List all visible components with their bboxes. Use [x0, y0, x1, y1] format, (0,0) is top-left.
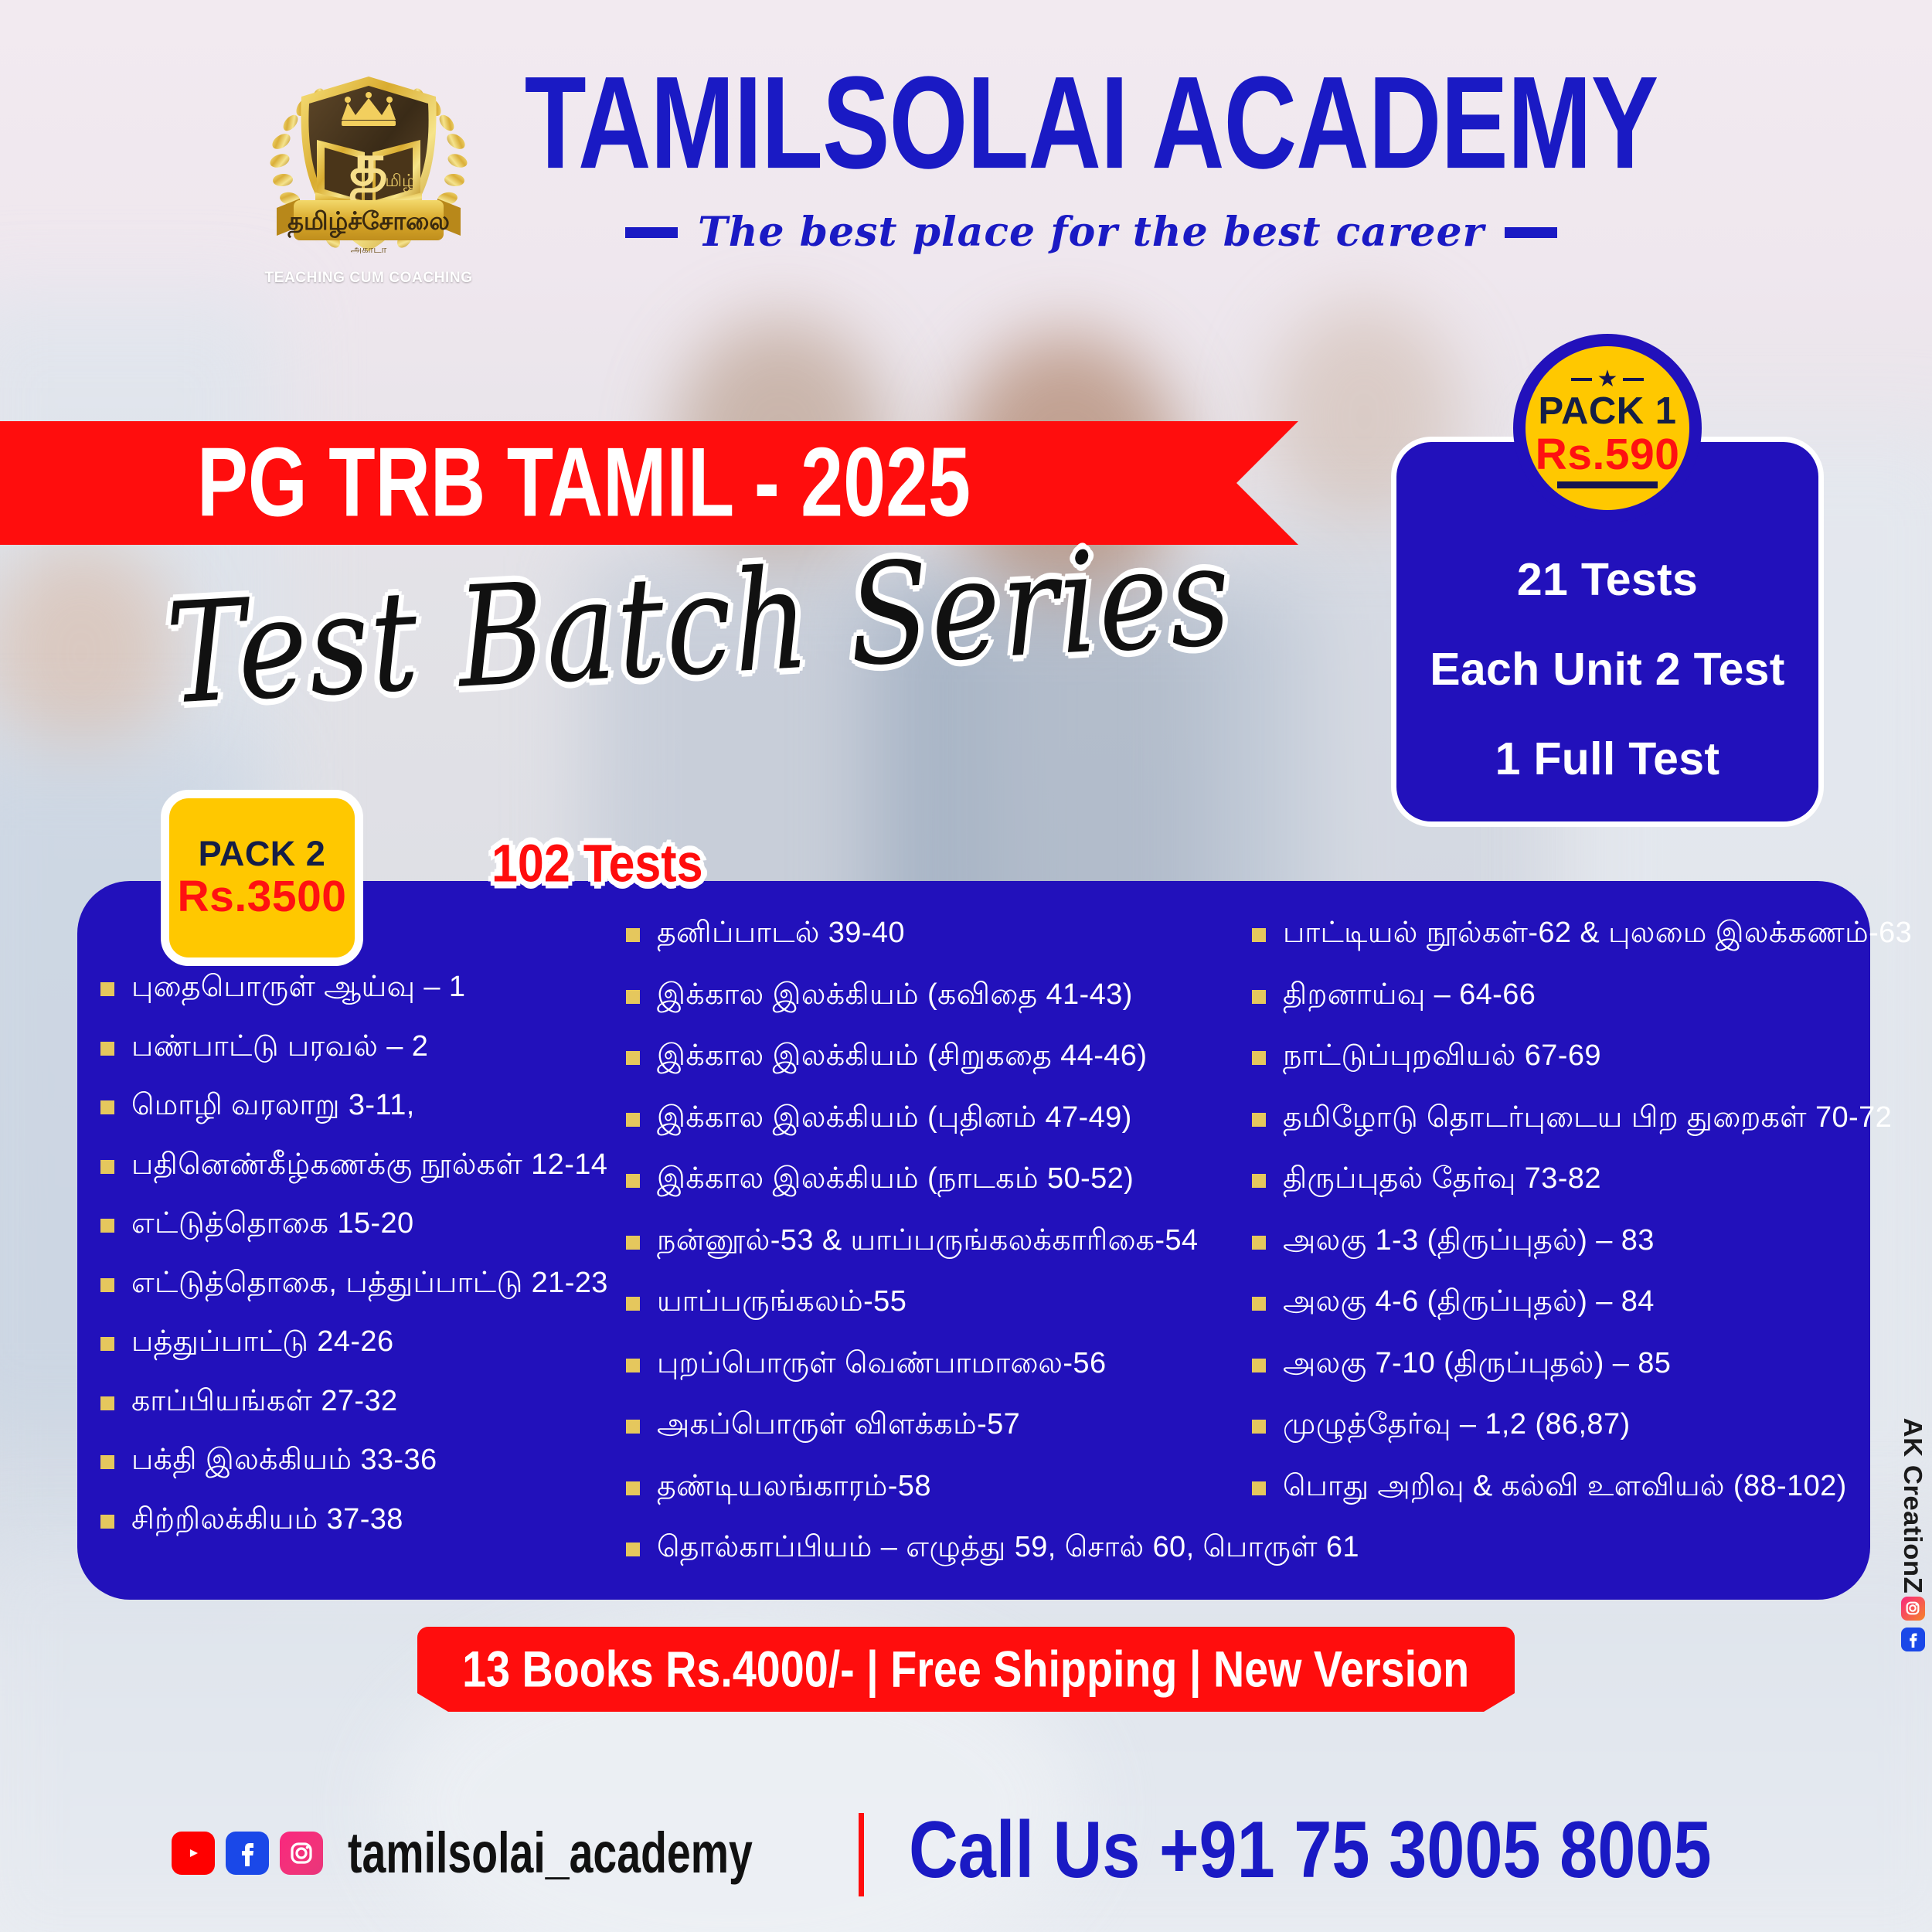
syllabus-column-3: பாட்டியல் நூல்கள்-62 & புலமை இலக்கணம்-63… [1244, 907, 1862, 1583]
syllabus-column-1: புதைபொருள் ஆய்வு – 1 பண்பாட்டு பரவல் – 2… [77, 907, 618, 1583]
list-item: மொழி வரலாறு 3-11, [100, 1087, 618, 1124]
syllabus-column-2: தனிப்பாடல் 39-40 இக்கால இலக்கியம் (கவிதை… [618, 907, 1244, 1583]
designer-credit: AK CreationZ [1898, 1422, 1927, 1651]
pack1-name: PACK 1 [1538, 393, 1676, 430]
list-item-label: நன்னூல்-53 & யாப்பருங்கலக்காரிகை-54 [657, 1223, 1198, 1260]
list-item-label: தண்டியலங்காரம்-58 [657, 1468, 931, 1505]
list-item-label: எட்டுத்தொகை, பத்துப்பாட்டு 21-23 [131, 1265, 608, 1302]
list-item: சிற்றிலக்கியம் 37-38 [100, 1502, 618, 1539]
list-item-label: சிற்றிலக்கியம் 37-38 [131, 1502, 403, 1539]
list-item: அலகு 7-10 (திருப்புதல்) – 85 [1252, 1345, 1862, 1383]
list-item: இக்கால இலக்கியம் (சிறுகதை 44-46) [626, 1038, 1244, 1075]
bullet-icon [100, 1100, 114, 1114]
list-item: அகப்பொருள் விளக்கம்-57 [626, 1406, 1244, 1444]
list-item: யாப்பருங்கலம்-55 [626, 1284, 1244, 1321]
list-item: நாட்டுப்புறவியல் 67-69 [1252, 1038, 1862, 1075]
list-item-label: திறனாய்வு – 64-66 [1283, 977, 1536, 1014]
list-item-label: யாப்பருங்கலம்-55 [657, 1284, 906, 1321]
bullet-icon [626, 1236, 640, 1250]
list-item-label: பக்தி இலக்கியம் 33-36 [131, 1442, 437, 1479]
bullet-icon [626, 1113, 640, 1127]
list-item-label: முழுத்தேர்வு – 1,2 (86,87) [1283, 1406, 1631, 1444]
bullet-icon [100, 982, 114, 996]
list-item-label: மொழி வரலாறு 3-11, [131, 1087, 415, 1124]
page-header: த மிழ் தமிழ்ச்சோலை அகாடா TEACHING CUM CO… [0, 0, 1932, 332]
bullet-icon [1252, 928, 1266, 942]
list-item-label: இக்கால இலக்கியம் (புதினம் 47-49) [657, 1100, 1132, 1137]
list-item-label: பண்பாட்டு பரவல் – 2 [131, 1029, 428, 1066]
list-item: புறப்பொருள் வெண்பாமாலை-56 [626, 1345, 1244, 1383]
tagline: The best place for the best career [698, 209, 1485, 256]
svg-text:த: த [349, 132, 388, 206]
svg-text:மிழ்: மிழ் [385, 171, 415, 192]
pack1-line-1: Each Unit 2 Test [1430, 643, 1784, 696]
list-item-label: பதினெண்கீழ்கணக்கு நூல்கள் 12-14 [131, 1147, 607, 1184]
list-item: புதைபொருள் ஆய்வு – 1 [100, 969, 618, 1006]
credit-facebook-icon [1901, 1628, 1925, 1651]
logo-subtitle: TEACHING CUM COACHING [257, 270, 481, 287]
list-item-label: பொது அறிவு & கல்வி உளவியல் (88-102) [1283, 1468, 1847, 1505]
bullet-icon [100, 1219, 114, 1233]
list-item: இக்கால இலக்கியம் (புதினம் 47-49) [626, 1100, 1244, 1137]
list-item-label: அலகு 4-6 (திருப்புதல்) – 84 [1283, 1284, 1655, 1321]
bullet-icon [100, 1042, 114, 1056]
facebook-icon[interactable] [226, 1832, 269, 1875]
svg-text:அகாடா: அகாடா [351, 243, 387, 255]
list-item: முழுத்தேர்வு – 1,2 (86,87) [1252, 1406, 1862, 1444]
list-item-label: இக்கால இலக்கியம் (நாடகம் 50-52) [657, 1161, 1134, 1198]
list-item-label: நாட்டுப்புறவியல் 67-69 [1283, 1038, 1601, 1075]
bullet-icon [100, 1337, 114, 1351]
list-item: திருப்புதல் தேர்வு 73-82 [1252, 1161, 1862, 1198]
list-item: தண்டியலங்காரம்-58 [626, 1468, 1244, 1505]
list-item: அலகு 1-3 (திருப்புதல்) – 83 [1252, 1223, 1862, 1260]
course-title: PG TRB TAMIL - 2025 [197, 427, 971, 539]
list-item: பதினெண்கீழ்கணக்கு நூல்கள் 12-14 [100, 1147, 618, 1184]
bullet-icon [1252, 1174, 1266, 1188]
list-item-label: புதைபொருள் ஆய்வு – 1 [131, 969, 465, 1006]
list-item-label: காப்பியங்கள் 27-32 [131, 1383, 398, 1420]
page-title: TAMILSOLAI ACADEMY [525, 56, 1658, 188]
bullet-icon [100, 1515, 114, 1529]
bullet-icon [1252, 1420, 1266, 1434]
list-item-label: அகப்பொருள் விளக்கம்-57 [657, 1406, 1020, 1444]
bullet-icon [626, 1051, 640, 1065]
youtube-icon[interactable] [172, 1832, 215, 1875]
bullet-icon [626, 1420, 640, 1434]
list-item-label: எட்டுத்தொகை 15-20 [131, 1206, 414, 1243]
list-item: பத்துப்பாட்டு 24-26 [100, 1324, 618, 1361]
books-offer-ribbon: 13 Books Rs.4000/- | Free Shipping | New… [417, 1627, 1515, 1712]
bullet-icon [1252, 1359, 1266, 1372]
bullet-icon [1252, 1113, 1266, 1127]
bullet-icon [1252, 1297, 1266, 1311]
tagline-dash-left [625, 227, 678, 238]
list-item: தொல்காப்பியம் – எழுத்து 59, சொல் 60, பொர… [626, 1529, 1244, 1566]
tagline-dash-right [1505, 227, 1557, 238]
list-item-label: பாட்டியல் நூல்கள்-62 & புலமை இலக்கணம்-63 [1283, 915, 1912, 952]
list-item-label: அலகு 7-10 (திருப்புதல்) – 85 [1283, 1345, 1671, 1383]
bullet-icon [626, 1174, 640, 1188]
list-item-label: இக்கால இலக்கியம் (சிறுகதை 44-46) [657, 1038, 1147, 1075]
list-item: அலகு 4-6 (திருப்புதல்) – 84 [1252, 1284, 1862, 1321]
pack1-price-badge[interactable]: ★ PACK 1 Rs.590 [1513, 334, 1702, 522]
pack2-name: PACK 2 [199, 835, 326, 873]
page-footer: tamilsolai_academy Call Us +91 75 3005 8… [0, 1808, 1932, 1932]
footer-divider [859, 1813, 864, 1896]
list-item-label: தனிப்பாடல் 39-40 [657, 915, 905, 952]
list-item-label: இக்கால இலக்கியம் (கவிதை 41-43) [657, 977, 1133, 1014]
list-item: திறனாய்வு – 64-66 [1252, 977, 1862, 1014]
star-ornament: ★ [1571, 368, 1645, 391]
social-links: tamilsolai_academy [172, 1825, 808, 1881]
list-item: தனிப்பாடல் 39-40 [626, 915, 1244, 952]
list-item: பக்தி இலக்கியம் 33-36 [100, 1442, 618, 1479]
list-item: நன்னூல்-53 & யாப்பருங்கலக்காரிகை-54 [626, 1223, 1244, 1260]
shield-crest-icon: த மிழ் தமிழ்ச்சோலை அகாடா [257, 49, 481, 273]
bullet-icon [626, 1297, 640, 1311]
list-item: இக்கால இலக்கியம் (நாடகம் 50-52) [626, 1161, 1244, 1198]
star-icon: ★ [1597, 368, 1618, 391]
dash-right-icon [1623, 378, 1644, 381]
bullet-icon [1252, 990, 1266, 1004]
bullet-icon [100, 1160, 114, 1174]
bullet-icon [626, 1359, 640, 1372]
list-item-label: புறப்பொருள் வெண்பாமாலை-56 [657, 1345, 1106, 1383]
pack1-line-0: 21 Tests [1517, 553, 1698, 606]
bullet-icon [100, 1396, 114, 1410]
pack1-line-2: 1 Full Test [1495, 733, 1720, 785]
credit-instagram-icon [1901, 1597, 1925, 1621]
instagram-icon[interactable] [280, 1832, 323, 1875]
list-item: பண்பாட்டு பரவல் – 2 [100, 1029, 618, 1066]
list-item: தமிழோடு தொடர்புடைய பிற துறைகள் 70-72 [1252, 1100, 1862, 1137]
pack2-price-badge[interactable]: PACK 2 Rs.3500 [161, 790, 363, 966]
bullet-icon [626, 1543, 640, 1556]
credit-text: AK CreationZ [1898, 1418, 1927, 1594]
bullet-icon [626, 990, 640, 1004]
list-item: எட்டுத்தொகை 15-20 [100, 1206, 618, 1243]
call-us-text[interactable]: Call Us +91 75 3005 8005 [909, 1804, 1712, 1896]
list-item: இக்கால இலக்கியம் (கவிதை 41-43) [626, 977, 1244, 1014]
social-handle[interactable]: tamilsolai_academy [348, 1821, 753, 1886]
bullet-icon [626, 1481, 640, 1495]
bullet-icon [100, 1278, 114, 1292]
pack2-price: Rs.3500 [177, 872, 346, 921]
list-item: பொது அறிவு & கல்வி உளவியல் (88-102) [1252, 1468, 1862, 1505]
list-item: எட்டுத்தொகை, பத்துப்பாட்டு 21-23 [100, 1265, 618, 1302]
academy-logo: த மிழ் தமிழ்ச்சோலை அகாடா TEACHING CUM CO… [257, 49, 481, 288]
list-item-label: தமிழோடு தொடர்புடைய பிற துறைகள் 70-72 [1283, 1100, 1892, 1137]
pack1-price: Rs.590 [1536, 430, 1680, 479]
tagline-row: The best place for the best career [625, 209, 1557, 256]
dash-left-icon [1571, 378, 1592, 381]
syllabus-panel: புதைபொருள் ஆய்வு – 1 பண்பாட்டு பரவல் – 2… [77, 881, 1870, 1600]
bullet-icon [1252, 1236, 1266, 1250]
bullet-icon [626, 928, 640, 942]
bullet-icon [1252, 1051, 1266, 1065]
list-item: காப்பியங்கள் 27-32 [100, 1383, 618, 1420]
list-item-label: அலகு 1-3 (திருப்புதல்) – 83 [1283, 1223, 1655, 1260]
bullet-icon [1252, 1481, 1266, 1495]
bullet-icon [100, 1455, 114, 1469]
logo-tamil-text: தமிழ்ச்சோலை [287, 207, 450, 239]
list-item-label: பத்துப்பாட்டு 24-26 [131, 1324, 394, 1361]
books-offer-text: 13 Books Rs.4000/- | Free Shipping | New… [463, 1640, 1470, 1699]
list-item: பாட்டியல் நூல்கள்-62 & புலமை இலக்கணம்-63 [1252, 915, 1862, 952]
tests-count-label: 102 Tests [492, 833, 703, 893]
badge-underline [1557, 481, 1658, 488]
header-text-block: TAMILSOLAI ACADEMY The best place for th… [507, 70, 1675, 256]
list-item-label: திருப்புதல் தேர்வு 73-82 [1283, 1161, 1601, 1198]
